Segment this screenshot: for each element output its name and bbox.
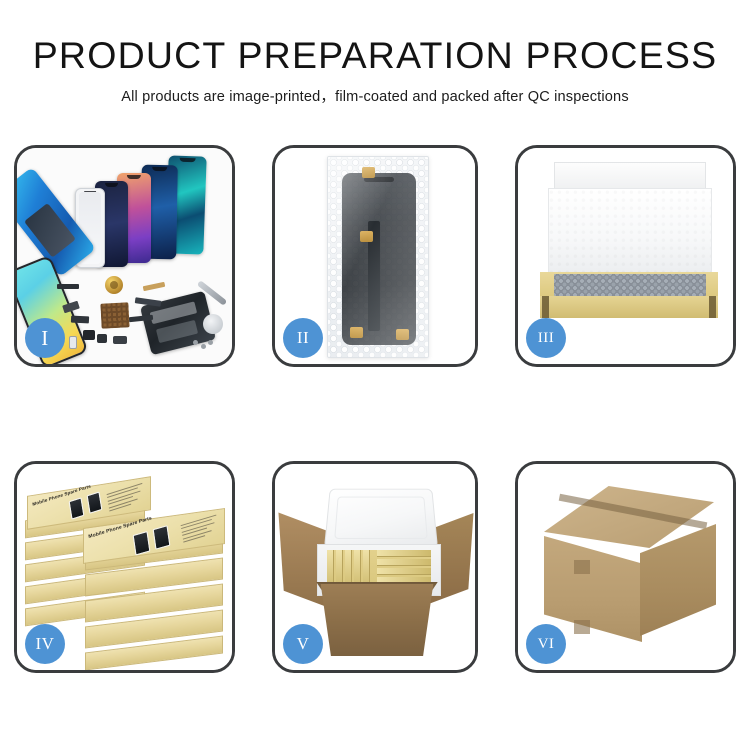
screw-icon [208, 340, 213, 345]
small-component-part [57, 284, 79, 289]
carton-tape-patch [574, 620, 590, 634]
label-phone-image [87, 491, 103, 513]
carton-left-face [544, 536, 642, 642]
flex-cable-part [143, 282, 166, 291]
carton-tape-patch [574, 560, 590, 574]
label-phone-image [69, 497, 85, 519]
screws-group [193, 340, 215, 350]
screw-icon [201, 344, 206, 349]
small-component-part [83, 330, 95, 340]
step-badge-2: II [283, 318, 323, 358]
step-badge-5: V [283, 624, 323, 664]
gold-connector-tab [350, 327, 363, 338]
gold-connector-tab [362, 167, 375, 178]
process-row-top: I II [0, 142, 750, 367]
gold-connector-tab [360, 231, 373, 242]
small-component-part [97, 334, 107, 343]
kraft-box-front-panel [540, 296, 718, 318]
product-preparation-infographic: PRODUCT PREPARATION PROCESS All products… [0, 0, 750, 750]
step-badge-1: I [25, 318, 65, 358]
box-lid-flap [554, 162, 706, 188]
small-component-part [69, 336, 77, 349]
process-step-1[interactable]: I [14, 145, 235, 367]
styrofoam-lid [324, 489, 438, 549]
small-component-part [71, 316, 89, 324]
bubble-wrapped-items [554, 274, 706, 296]
process-row-bottom: Mobile Phone Spare Parts Mobile Phone Sp… [0, 458, 750, 683]
page-subtitle: All products are image-printed，film-coat… [0, 85, 750, 106]
phone-notch-icon [127, 175, 141, 179]
label-spec-lines [181, 515, 220, 545]
phone-notch-icon [105, 183, 119, 187]
step-badge-3: III [526, 318, 566, 358]
process-step-5[interactable]: V [272, 461, 478, 673]
label-phone-image [133, 531, 151, 556]
gold-connector-tab [396, 329, 409, 340]
screw-icon [193, 340, 198, 345]
camera-module-part [105, 276, 123, 294]
chip-array-part [100, 302, 129, 328]
process-step-4[interactable]: Mobile Phone Spare Parts Mobile Phone Sp… [14, 461, 235, 673]
tool-head [203, 314, 223, 334]
foam-padding-sheet [548, 188, 712, 274]
process-step-3[interactable]: III [515, 145, 736, 367]
phone-notch-icon [180, 158, 196, 163]
process-steps-grid: I II [0, 142, 750, 683]
process-step-2[interactable]: II [272, 145, 478, 367]
phone-notch-icon [152, 167, 167, 171]
step-badge-4: IV [25, 624, 65, 664]
step-badge-6: VI [526, 624, 566, 664]
label-spec-lines [107, 483, 146, 514]
process-step-6[interactable]: VI [515, 461, 736, 673]
bubble-wrap-bag [327, 156, 429, 358]
label-phone-image [153, 525, 171, 550]
carton-body [313, 584, 441, 656]
small-component-part [113, 336, 127, 344]
phone-notch-icon [84, 191, 96, 195]
page-title: PRODUCT PREPARATION PROCESS [0, 36, 750, 75]
header: PRODUCT PREPARATION PROCESS All products… [0, 36, 750, 106]
